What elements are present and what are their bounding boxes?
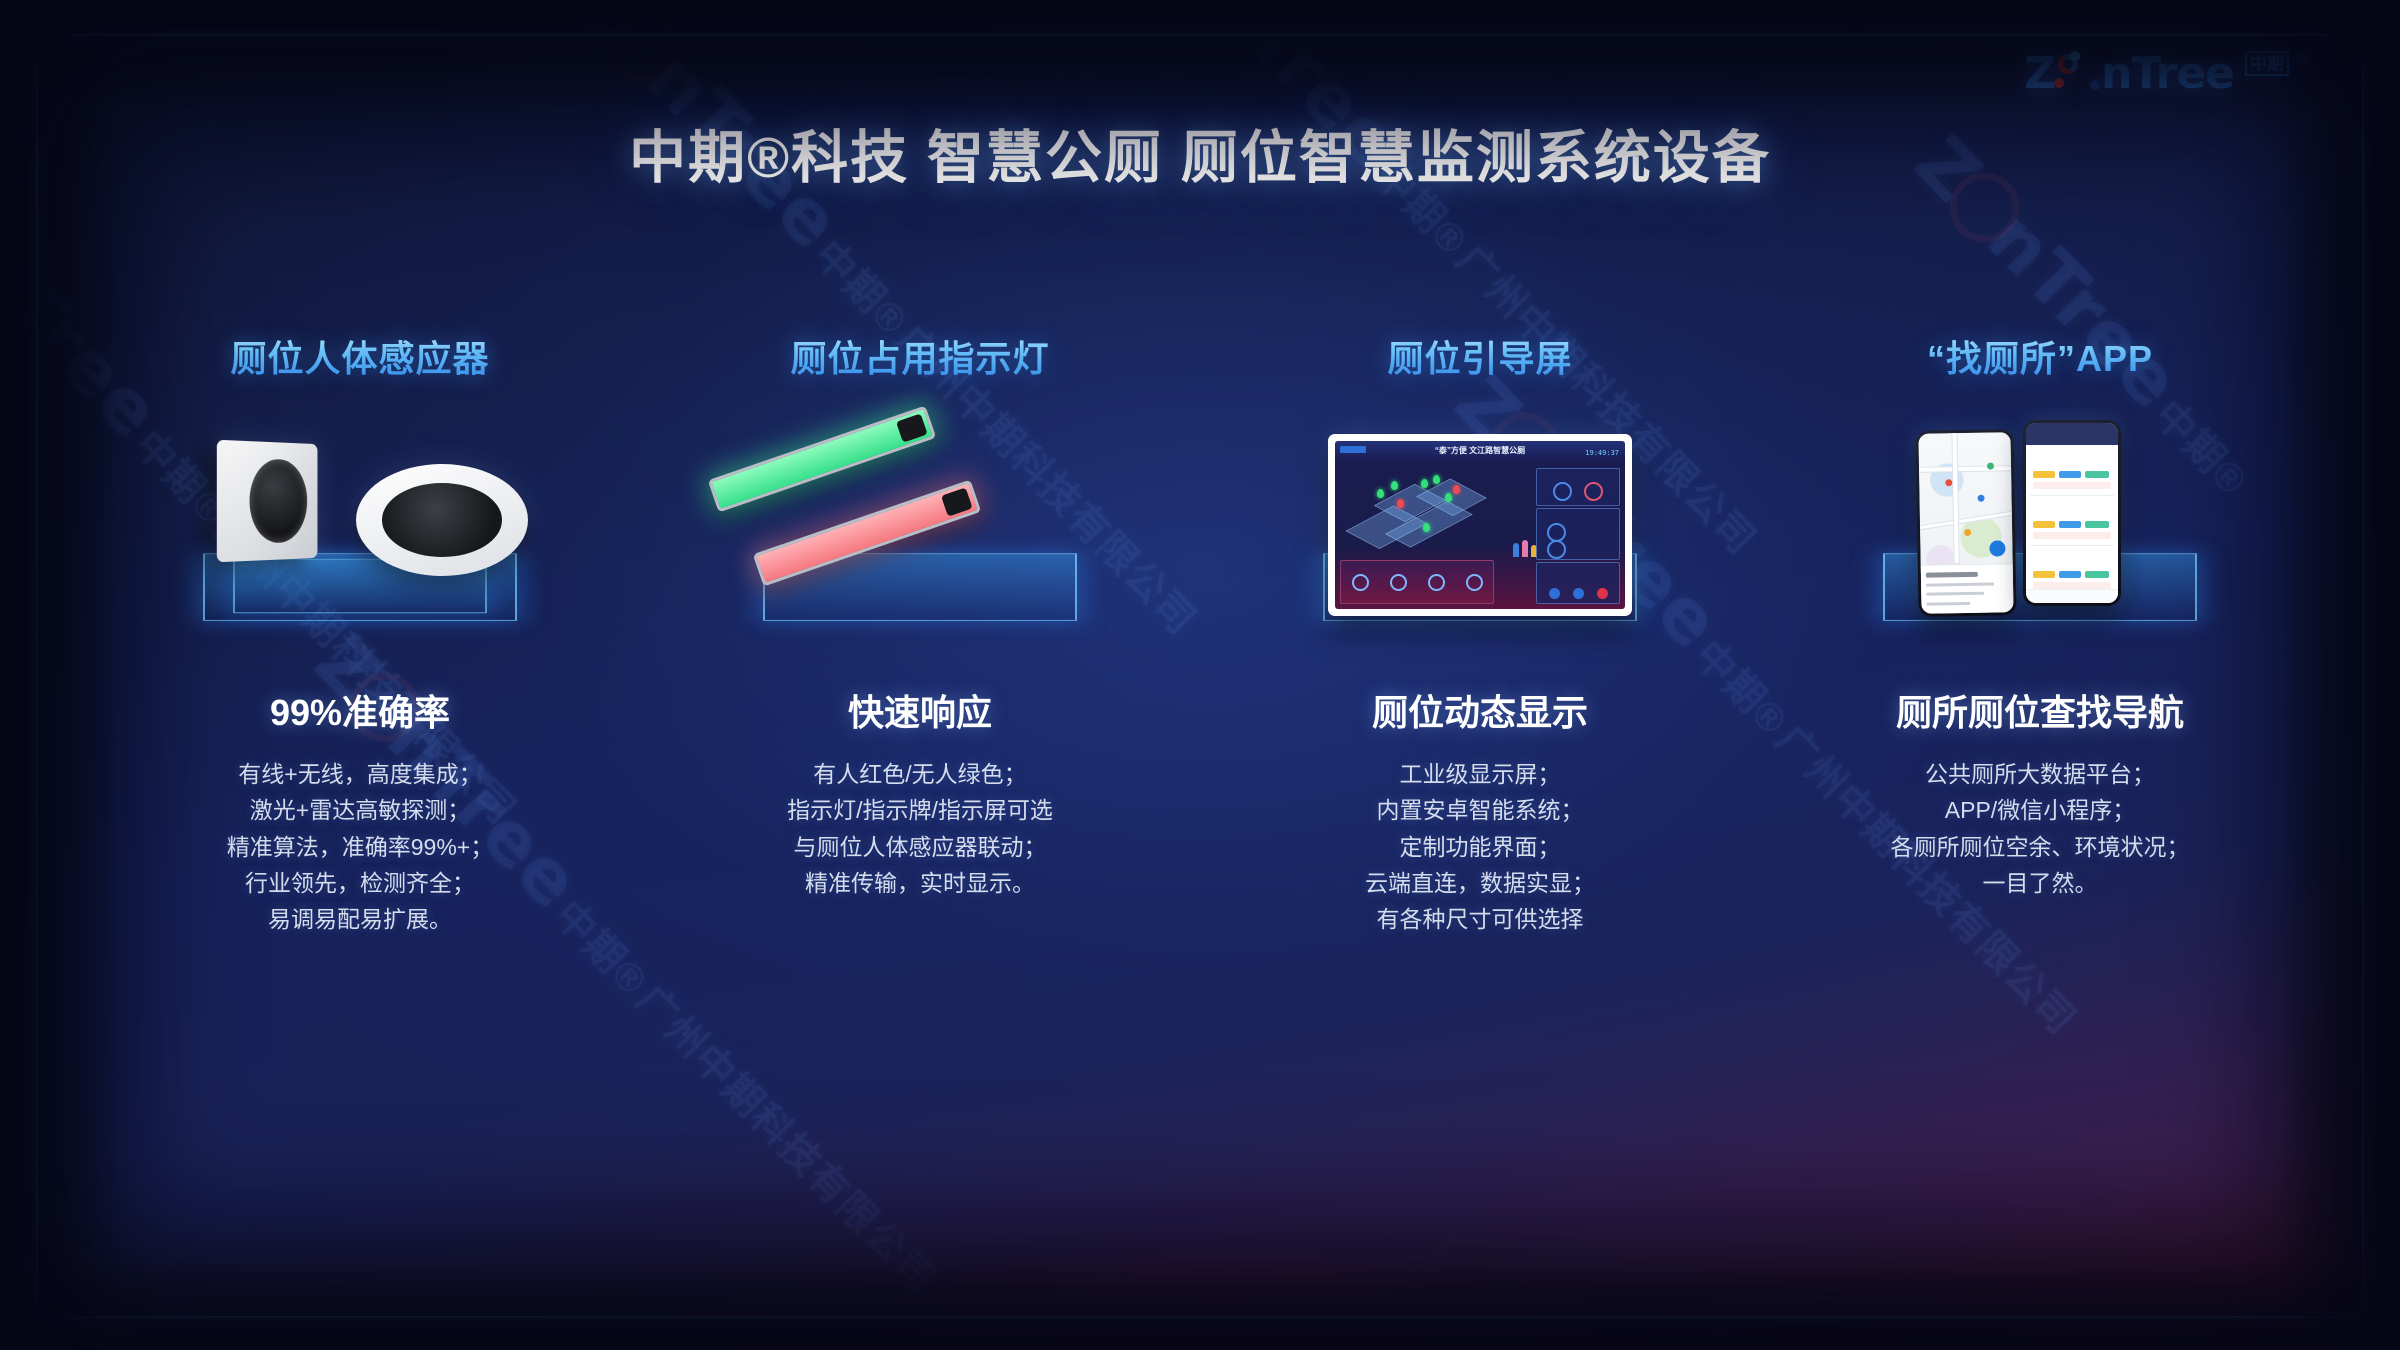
dashboard-screen: “泰”方便 文江路智慧公厕 19:49:37 [1335, 441, 1625, 609]
app-bottom-nav[interactable] [2026, 589, 2118, 603]
product-column-app: “找厕所”APP [1760, 330, 2320, 938]
guide-screen-illustration: “泰”方便 文江路智慧公厕 19:49:37 [1200, 408, 1760, 658]
body-line: 各厕所厕位空余、环境状况； [1891, 829, 2190, 865]
dashboard-stats-bar [1340, 560, 1494, 604]
watermark-company: 广州中期科技有限公司 [628, 977, 944, 1302]
body-line: 与厕位人体感应器联动； [787, 829, 1053, 865]
column-header: 厕位占用指示灯 [790, 330, 1049, 382]
column-title: 厕位动态显示 [1372, 684, 1588, 736]
dashboard-panel-usage [1536, 508, 1620, 560]
isometric-restroom-map [1335, 467, 1505, 558]
column-title: 厕所厕位查找导航 [1896, 684, 2184, 736]
body-line: 精准算法，准确率99%+； [227, 829, 493, 865]
logo-wordmark-tail: nTree [2101, 48, 2234, 99]
column-body: 有人红色/无人绿色； 指示灯/指示牌/指示屏可选 与厕位人体感应器联动； 精准传… [787, 756, 1053, 901]
body-line: 内置安卓智能系统； [1365, 792, 1595, 828]
body-line: 有线+无线，高度集成； [227, 756, 493, 792]
body-line: 公共厕所大数据平台； [1891, 756, 2190, 792]
body-line: 易调易配易扩展。 [227, 901, 493, 937]
app-illustration [1760, 408, 2320, 658]
column-header: 厕位人体感应器 [230, 330, 489, 382]
people-figures-icon [1513, 540, 1537, 557]
body-line: 工业级显示屏； [1365, 756, 1595, 792]
page-title: 中期®科技 智慧公厕 厕位智慧监测系统设备 [0, 112, 2400, 194]
dashboard-clock: 19:49:37 [1585, 449, 1619, 457]
column-header: 厕位引导屏 [1387, 330, 1572, 382]
dashboard-panel-gauges [1536, 468, 1620, 506]
body-line: APP/微信小程序； [1891, 792, 2190, 828]
logo-chinese-mark: 中期 [2245, 51, 2289, 76]
dashboard-title: “泰”方便 文江路智慧公厕 [1335, 445, 1625, 456]
product-column-indicator: 厕位占用指示灯 快速响应 有人红色/无人绿色； 指示灯/指示牌/指示屏可选 与厕… [640, 330, 1200, 938]
body-line: 一目了然。 [1891, 865, 2190, 901]
body-line: 激光+雷达高敏探测； [227, 792, 493, 828]
product-columns: 厕位人体感应器 99%准确率 有线+无线，高度集成； 激光+雷达高敏探测； 精准… [80, 330, 2320, 938]
body-line: 有人红色/无人绿色； [787, 756, 1053, 792]
column-body: 公共厕所大数据平台； APP/微信小程序； 各厕所厕位空余、环境状况； 一目了然… [1891, 756, 2190, 901]
column-body: 有线+无线，高度集成； 激光+雷达高敏探测； 精准算法，准确率99%+； 行业领… [227, 756, 493, 938]
slide-canvas: ZnTree 中期® 广州中期科技有限公司 ZnTree 中期® 广州中期科技有… [0, 0, 2400, 1350]
dashboard-panel-alerts [1536, 562, 1620, 604]
logo-orbit-icon [2056, 52, 2100, 96]
guide-display-device: “泰”方便 文江路智慧公厕 19:49:37 [1328, 434, 1632, 616]
vacant-light-bar-icon [708, 405, 937, 512]
phone-map-view [1915, 429, 2016, 617]
product-column-guide-screen: 厕位引导屏 “泰”方便 文江路智慧公厕 19:49:37 [1200, 330, 1760, 938]
column-body: 工业级显示屏； 内置安卓智能系统； 定制功能界面； 云端直连，数据实显； 有各种… [1365, 756, 1595, 938]
ceiling-sensor-icon [356, 464, 528, 576]
column-title: 快速响应 [848, 684, 992, 736]
registered-icon: ® [2295, 50, 2312, 70]
body-line: 有各种尺寸可供选择 [1365, 901, 1595, 937]
list-item[interactable] [2030, 499, 2114, 546]
indicator-illustration [640, 408, 1200, 658]
map-detail-card [1921, 563, 2014, 614]
watermark-cn: 中期® [806, 233, 916, 344]
body-line: 定制功能界面； [1365, 829, 1595, 865]
body-line: 指示灯/指示牌/指示屏可选 [787, 792, 1053, 828]
locate-button[interactable] [1989, 540, 2005, 556]
logo-letter-z: Z [2024, 48, 2055, 99]
phone-list-view [2023, 420, 2121, 606]
logo-wordmark: Z nTree [2024, 48, 2234, 99]
app-header-bar [2026, 423, 2118, 445]
wall-sensor-icon [217, 440, 318, 563]
body-line: 精准传输，实时显示。 [787, 865, 1053, 901]
body-line: 行业领先，检测齐全； [227, 865, 493, 901]
column-header: “找厕所”APP [1927, 330, 2153, 382]
product-column-sensor: 厕位人体感应器 99%准确率 有线+无线，高度集成； 激光+雷达高敏探测； 精准… [80, 330, 640, 938]
sensor-illustration [80, 408, 640, 658]
list-item[interactable] [2030, 449, 2114, 496]
column-title: 99%准确率 [270, 684, 450, 736]
brand-logo: Z nTree 中期 ® [2024, 48, 2312, 99]
body-line: 云端直连，数据实显； [1365, 865, 1595, 901]
